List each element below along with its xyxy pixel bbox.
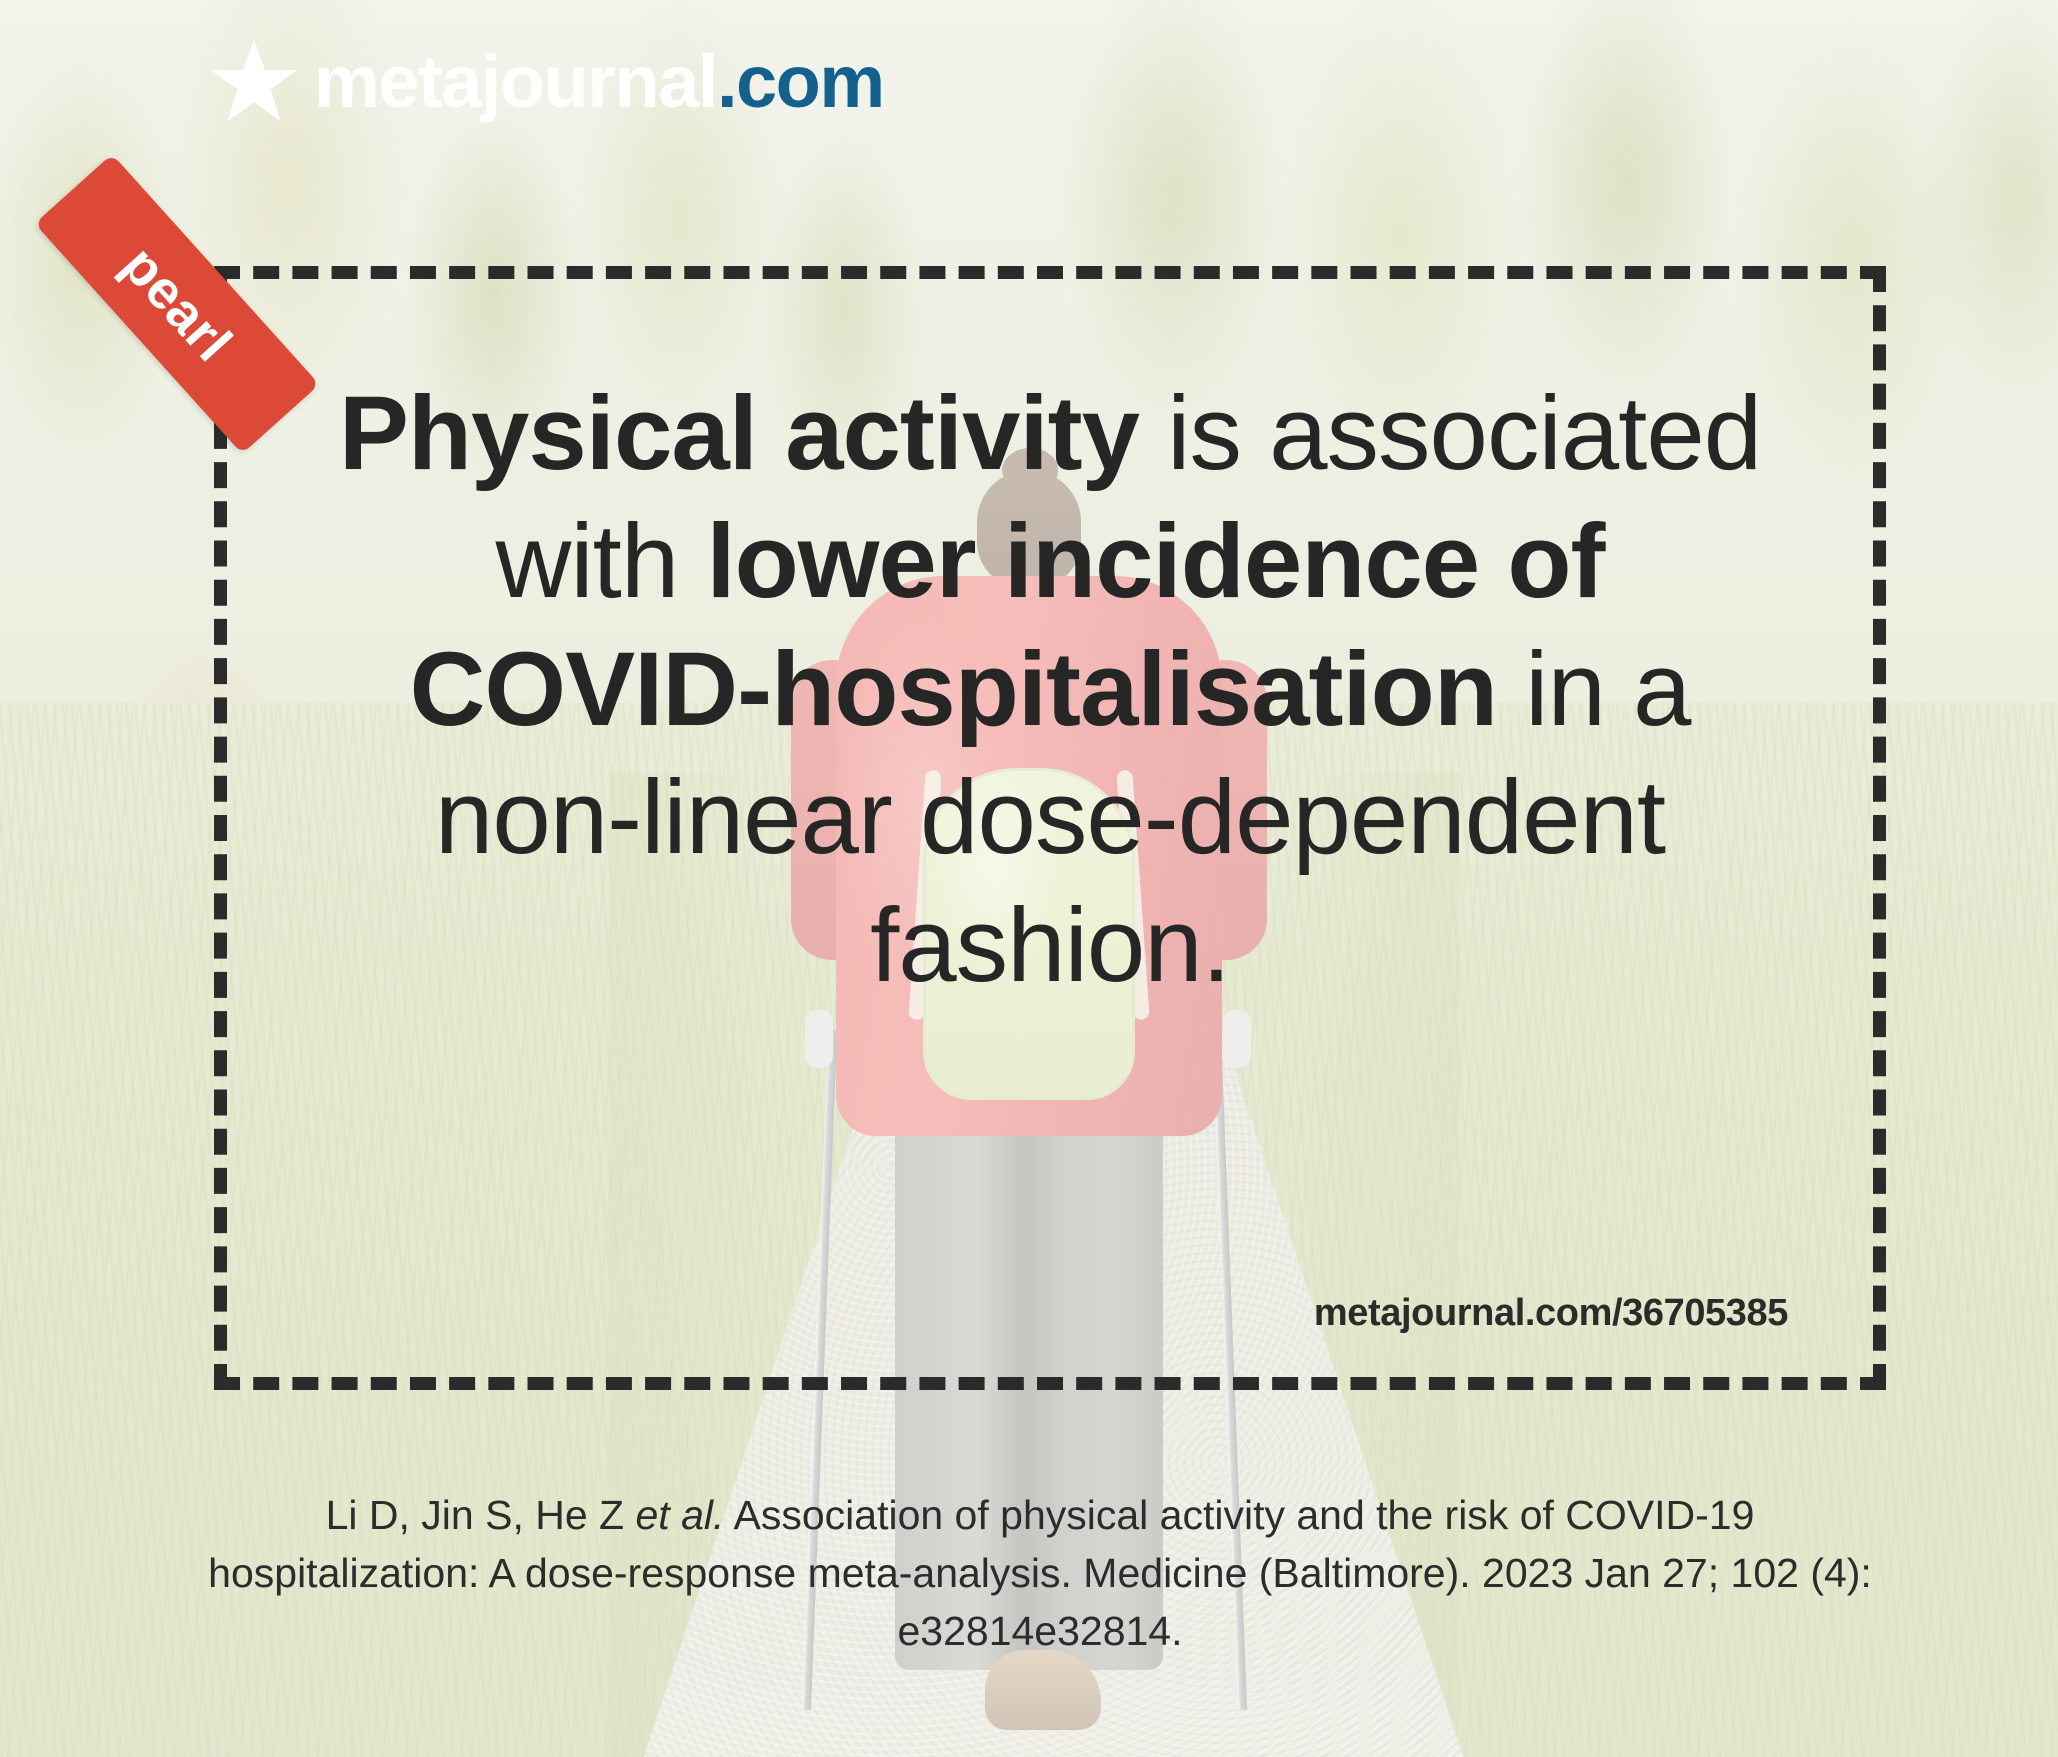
citation-authors: Li D, Jin S, He Z [326,1492,636,1538]
permalink-url[interactable]: metajournal.com/36705385 [1314,1292,1788,1335]
pearl-card: metajournal.com pearl Physical activity … [0,0,2058,1757]
page-title: Physical activity is associated with low… [330,370,1770,1010]
brand-tld: .com [717,40,884,123]
brand-name: metajournal [314,40,717,123]
brand-logo[interactable]: metajournal.com [208,36,884,128]
citation-et-al: et al. [635,1492,724,1538]
brand-wordmark: metajournal.com [314,45,884,119]
citation-reference: Li D, Jin S, He Z et al. Association of … [186,1486,1894,1661]
headline-segment-bold-1: Physical activity [339,375,1139,492]
star-icon [208,36,300,128]
